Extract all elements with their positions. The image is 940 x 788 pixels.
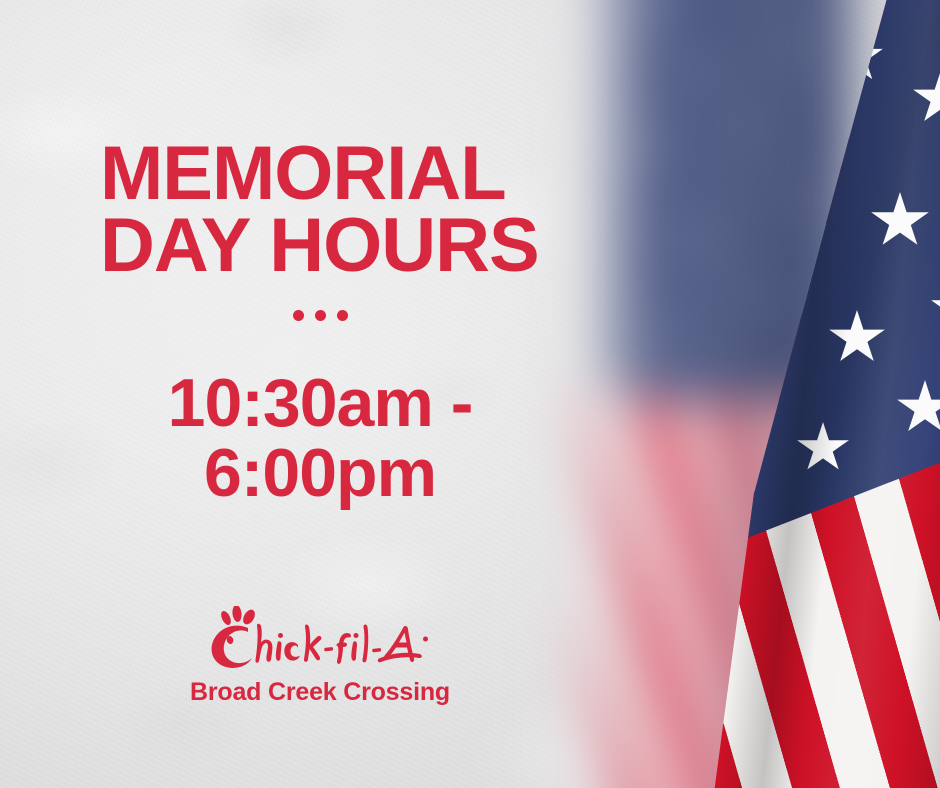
wordmark-l bbox=[362, 625, 368, 663]
hours-line-2: 6:00pm bbox=[0, 438, 640, 508]
hours-line-1: 10:30am - bbox=[0, 368, 640, 438]
foreground-flag-canton bbox=[700, 0, 940, 540]
flag-star-icon bbox=[792, 120, 848, 174]
chicken-comb-feather-icon bbox=[232, 606, 243, 622]
brand-logo-block: Broad Creek Crossing bbox=[0, 606, 640, 707]
memorial-day-hours-poster: MEMORIAL DAY HOURS 10:30am - 6:00pm bbox=[0, 0, 940, 788]
wordmark-hyphen-1 bbox=[324, 647, 333, 652]
hours-text: 10:30am - 6:00pm bbox=[0, 368, 640, 508]
chicken-comb-feather-icon bbox=[241, 608, 258, 627]
flag-star-icon bbox=[782, 0, 836, 16]
wordmark-h bbox=[255, 624, 272, 663]
registered-trademark-icon bbox=[423, 637, 428, 642]
wordmark-i-dot bbox=[278, 633, 283, 638]
page-title: MEMORIAL DAY HOURS bbox=[100, 138, 570, 282]
separator-dots bbox=[0, 310, 640, 321]
separator-dot-icon bbox=[337, 310, 348, 321]
flag-star-icon bbox=[930, 280, 940, 338]
poster-content: MEMORIAL DAY HOURS 10:30am - 6:00pm bbox=[0, 0, 600, 788]
wordmark-hyphen-2 bbox=[372, 648, 381, 653]
flag-star-icon bbox=[828, 310, 886, 366]
flag-star-icon bbox=[870, 192, 930, 250]
wordmark-i bbox=[276, 641, 282, 661]
wordmark-swash bbox=[378, 653, 422, 663]
flag-star-icon bbox=[796, 422, 850, 474]
store-name: Broad Creek Crossing bbox=[0, 678, 640, 707]
flag-star-icon bbox=[760, 226, 816, 280]
chicken-comb-feather-icon bbox=[219, 610, 233, 627]
wordmark-i2 bbox=[351, 641, 357, 661]
flag-star-icon bbox=[912, 70, 940, 126]
chick-fil-a-c-letter bbox=[212, 626, 252, 668]
wordmark-f bbox=[337, 633, 351, 664]
wordmark-c bbox=[284, 642, 300, 660]
wordmark-k bbox=[304, 625, 321, 662]
flag-star-icon bbox=[896, 380, 940, 436]
flag-star-icon bbox=[876, 0, 930, 2]
separator-dot-icon bbox=[315, 310, 326, 321]
flag-star-icon bbox=[828, 30, 884, 84]
separator-dot-icon bbox=[293, 310, 304, 321]
wordmark-i2-dot bbox=[354, 633, 359, 638]
chick-fil-a-logo bbox=[205, 606, 435, 672]
foreground-flag bbox=[700, 0, 940, 788]
headline-line-2: DAY HOURS bbox=[100, 210, 570, 282]
flag-star-icon bbox=[732, 352, 786, 404]
foreground-flag-shape bbox=[700, 0, 940, 788]
